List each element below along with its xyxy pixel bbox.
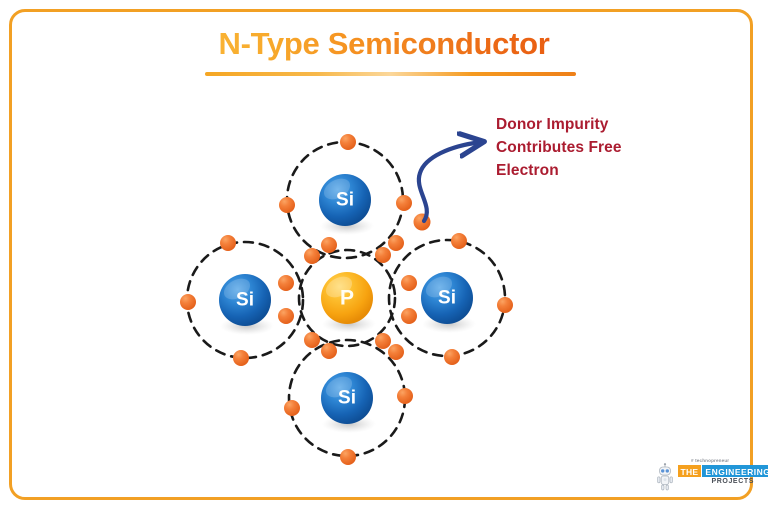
logo-word-engineering: ENGINEERING (702, 465, 768, 477)
electron (444, 349, 460, 365)
electron (284, 400, 300, 416)
diagram-canvas: N-Type Semiconductor Donor Impurity Cont… (0, 0, 768, 515)
electron (233, 350, 249, 366)
electron-bond-pair (375, 247, 391, 263)
atom-si-left: Si (219, 274, 271, 326)
electron (401, 308, 417, 324)
electron (278, 308, 294, 324)
atom-label-si-top: Si (336, 190, 354, 211)
electron (396, 195, 412, 211)
electron (397, 388, 413, 404)
atom-label-p-center: P (340, 287, 354, 310)
electron (180, 294, 196, 310)
electron-bond-pair (321, 343, 337, 359)
electron (279, 197, 295, 213)
electron-bond-pair (375, 333, 391, 349)
atoms: Si Si P Si Si (219, 174, 473, 424)
electron (401, 275, 417, 291)
electron (451, 233, 467, 249)
atom-label-si-right: Si (438, 288, 456, 309)
logo-word-projects: PROJECTS (711, 478, 754, 485)
electron (497, 297, 513, 313)
electron-bond-pair (304, 248, 320, 264)
atomic-lattice-diagram: Si Si P Si Si (0, 0, 768, 515)
electron (220, 235, 236, 251)
electron-bond-pair (304, 332, 320, 348)
donor-arrow (419, 142, 481, 221)
robot-mascot-icon (655, 462, 675, 492)
electron (340, 134, 356, 150)
atom-p-center: P (321, 272, 373, 324)
atom-si-bottom: Si (321, 372, 373, 424)
electron (278, 275, 294, 291)
electron-bond-pair (388, 344, 404, 360)
electron (340, 449, 356, 465)
logo-tagline: # technopreneur (691, 458, 729, 463)
brand-logo[interactable]: # technopreneur THE ENGINEERING PROJECTS (655, 458, 755, 494)
atom-label-si-left: Si (236, 290, 254, 311)
atom-si-right: Si (421, 272, 473, 324)
atom-label-si-bottom: Si (338, 388, 356, 409)
electron-bond-pair (321, 237, 337, 253)
electron-bond-pair (388, 235, 404, 251)
logo-wordmark: THE ENGINEERING (678, 465, 768, 477)
logo-word-the: THE (678, 465, 701, 477)
atom-si-top: Si (319, 174, 371, 226)
